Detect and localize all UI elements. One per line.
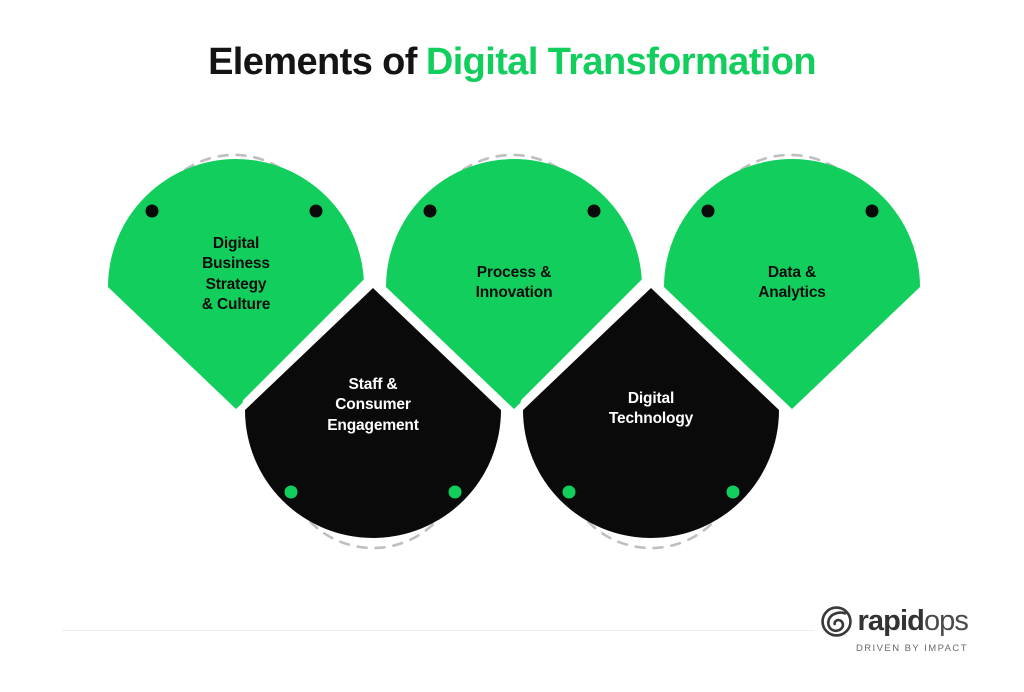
brand-logo[interactable]: rapidops DRIVEN BY IMPACT bbox=[778, 604, 968, 660]
brand-name-bold: rapid bbox=[858, 605, 924, 637]
diagram-shapes bbox=[0, 0, 1024, 692]
top-dot-left-1 bbox=[146, 205, 159, 218]
green-nodes-group bbox=[108, 159, 920, 409]
top-dot-right-2 bbox=[588, 205, 601, 218]
brand-row: rapidops bbox=[778, 604, 968, 638]
brand-tagline: DRIVEN BY IMPACT bbox=[778, 643, 968, 654]
bottom-dot-left-1 bbox=[285, 486, 298, 499]
brand-name-light: ops bbox=[924, 605, 968, 637]
bottom-dot-right-1 bbox=[449, 486, 462, 499]
top-dot-left-3 bbox=[702, 205, 715, 218]
bottom-dot-left-2 bbox=[563, 486, 576, 499]
diagram-stage: Digital Business Strategy & Culture Staf… bbox=[0, 0, 1024, 692]
top-dot-right-3 bbox=[866, 205, 879, 218]
bottom-dot-right-2 bbox=[727, 486, 740, 499]
footer-divider bbox=[62, 630, 814, 631]
brand-wordmark: rapidops bbox=[858, 607, 968, 636]
top-dot-left-2 bbox=[424, 205, 437, 218]
top-dot-right-1 bbox=[310, 205, 323, 218]
rapidops-spiral-icon bbox=[821, 606, 852, 637]
